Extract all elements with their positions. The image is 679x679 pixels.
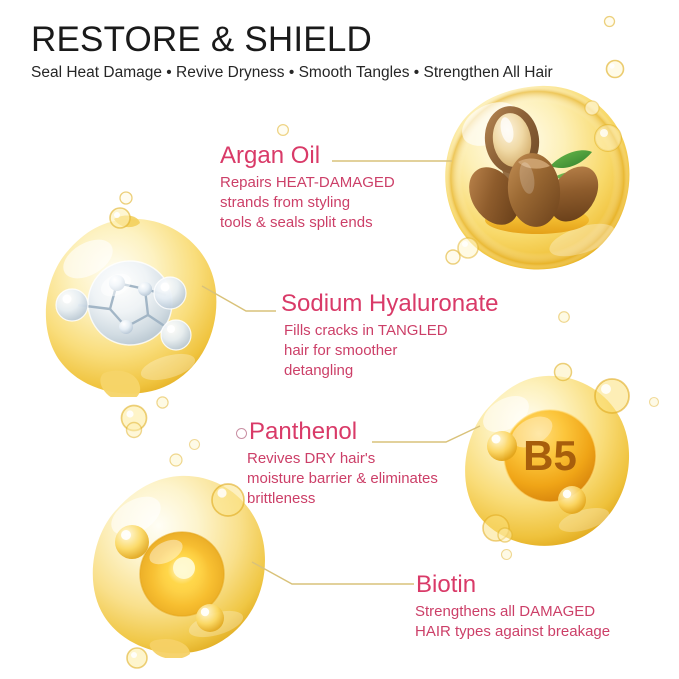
ingredient-title-argan-oil: Argan Oil [220, 143, 395, 168]
ingredient-block-argan-oil: Argan Oil Repairs HEAT-DAMAGED strands f… [220, 143, 395, 233]
decorative-bubble-icon [444, 248, 462, 266]
ingredient-description-biotin: Strengthens all DAMAGED HAIR types again… [415, 602, 610, 642]
ingredient-title-sodium-hyaluronate: Sodium Hyaluronate [281, 291, 498, 316]
decorative-bubble-icon [500, 548, 513, 561]
decorative-bubble-icon [124, 645, 150, 671]
panthenol-b5-droplet: B5 [462, 372, 634, 548]
ingredient-title-panthenol: Panthenol [249, 419, 438, 444]
ingredient-title-biotin: Biotin [416, 572, 610, 597]
sodium-hyaluronate-droplet [42, 215, 222, 397]
decorative-bubble-icon [603, 15, 616, 28]
decorative-bubble-icon [552, 361, 574, 383]
connector-line-biotin [250, 560, 416, 590]
decorative-bubble-icon [155, 395, 170, 410]
decorative-bubble-icon [107, 205, 133, 231]
decorative-bubble-icon [648, 396, 660, 408]
biotin-droplet [88, 472, 270, 658]
panthenol-bullet-icon [236, 428, 247, 439]
decorative-bubble-icon [276, 123, 290, 137]
ingredient-block-panthenol: Panthenol Revives DRY hair's moisture ba… [249, 419, 438, 509]
decorative-bubble-icon [604, 58, 626, 80]
ingredient-block-sodium-hyaluronate: Sodium Hyaluronate Fills cracks in TANGL… [281, 291, 498, 381]
decorative-bubble-icon [124, 420, 144, 440]
ingredient-description-argan-oil: Repairs HEAT-DAMAGED strands from stylin… [220, 173, 395, 233]
b5-label: B5 [523, 432, 577, 479]
decorative-bubble-icon [557, 310, 571, 324]
ingredient-description-panthenol: Revives DRY hair's moisture barrier & el… [247, 449, 438, 509]
decorative-bubble-icon [496, 526, 514, 544]
page-title: RESTORE & SHIELD [31, 22, 553, 59]
header: RESTORE & SHIELD Seal Heat Damage • Revi… [31, 22, 553, 82]
decorative-bubble-icon [168, 452, 184, 468]
decorative-bubble-icon [188, 438, 201, 451]
decorative-bubble-icon [118, 190, 134, 206]
ingredient-block-biotin: Biotin Strengthens all DAMAGED HAIR type… [416, 572, 610, 642]
ingredient-infographic: RESTORE & SHIELD Seal Heat Damage • Revi… [0, 0, 679, 679]
argan-oil-droplet [432, 78, 644, 282]
